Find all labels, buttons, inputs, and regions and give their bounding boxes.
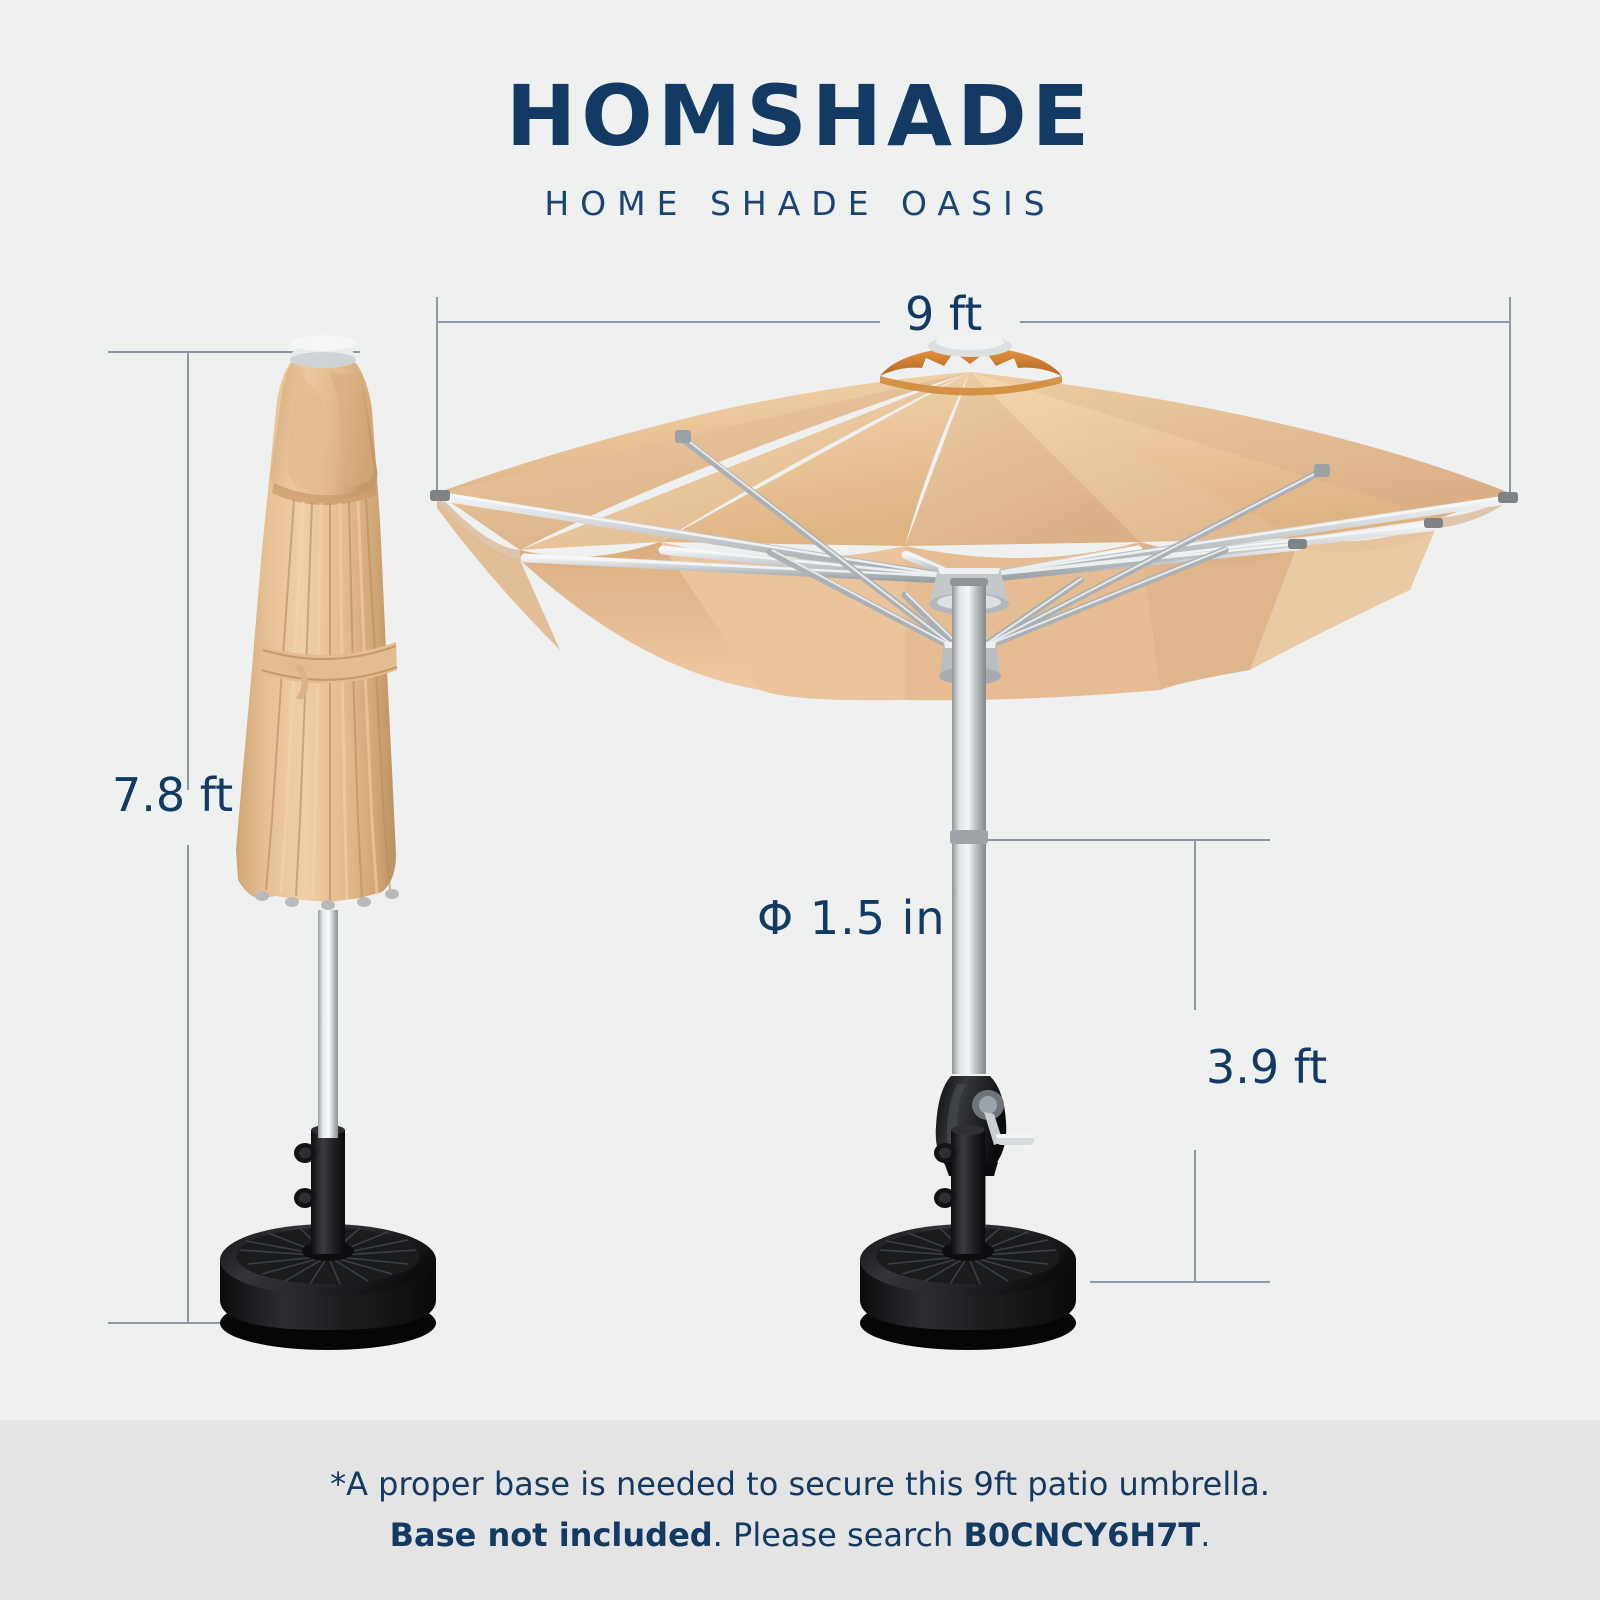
dimension-label-lower-pole-height: 3.9 ft bbox=[1206, 1040, 1327, 1094]
open-pole-collar-ring bbox=[950, 578, 988, 586]
base-collar bbox=[311, 1130, 345, 1254]
open-base-collar bbox=[951, 1130, 985, 1254]
footer-line-1: *A proper base is needed to secure this … bbox=[330, 1466, 1270, 1503]
closed-umbrella-base bbox=[220, 1125, 436, 1350]
closed-umbrella-view bbox=[220, 335, 436, 1350]
footer-end-period: . bbox=[1200, 1516, 1210, 1554]
closed-canopy bbox=[236, 335, 399, 950]
base-knob-lower bbox=[294, 1188, 316, 1208]
footer-line-2: Base not included. Please search B0CNCY6… bbox=[390, 1517, 1211, 1554]
product-infographic: HOMSHADE HOME SHADE OASIS bbox=[0, 0, 1600, 1600]
open-base-collar-top bbox=[951, 1125, 985, 1135]
open-base-knob-upper bbox=[934, 1143, 956, 1163]
dimension-label-height: 7.8 ft bbox=[112, 768, 233, 822]
footer-note-band: *A proper base is needed to secure this … bbox=[0, 1420, 1600, 1600]
crank-hub-inner bbox=[979, 1096, 997, 1114]
brand-logo-text: HOMSHADE bbox=[0, 74, 1600, 158]
brand-tagline: HOME SHADE OASIS bbox=[0, 184, 1600, 223]
dimension-label-pole-diameter: Φ 1.5 in bbox=[757, 891, 946, 945]
footer-base-not-included: Base not included bbox=[390, 1516, 713, 1554]
closed-canopy-finial bbox=[290, 335, 356, 368]
open-pole-joint bbox=[950, 830, 988, 844]
base-knob-upper bbox=[294, 1143, 316, 1163]
open-base-knob-lower bbox=[934, 1188, 956, 1208]
open-umbrella-base bbox=[860, 1125, 1076, 1350]
crank-handle bbox=[996, 1134, 1034, 1145]
open-pole-mid bbox=[952, 844, 986, 1074]
dimension-label-width: 9 ft bbox=[905, 287, 982, 341]
product-illustration bbox=[0, 250, 1600, 1420]
brand-header: HOMSHADE HOME SHADE OASIS bbox=[0, 74, 1600, 223]
footer-mid-text: . Please search bbox=[713, 1516, 964, 1554]
open-pole-upper bbox=[952, 580, 986, 830]
closed-pole-lower bbox=[318, 910, 338, 1138]
footer-asin: B0CNCY6H7T bbox=[964, 1516, 1201, 1554]
open-umbrella-view bbox=[430, 334, 1518, 1350]
